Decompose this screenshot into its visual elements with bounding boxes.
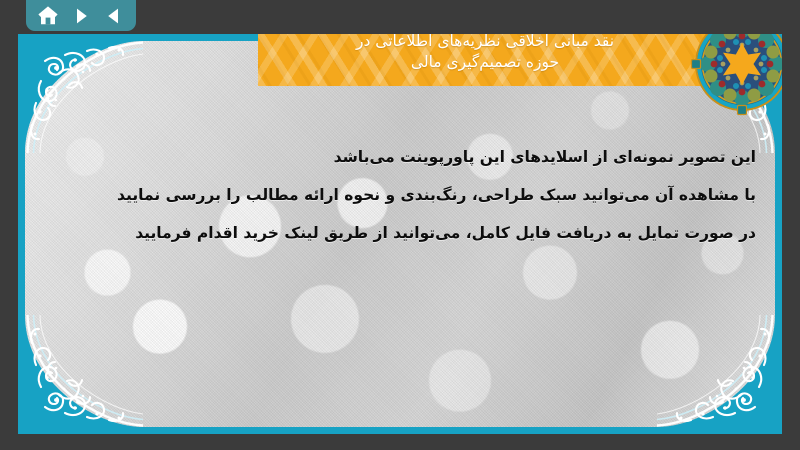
banner-left-tab [716, 34, 732, 86]
banner-body: نقد مبانی اخلاقی نظریه‌های اطلاعاتی در ح… [258, 34, 716, 86]
body-line: در صورت تمایل به دریافت فایل کامل، می‌تو… [138, 214, 756, 252]
body-line: با مشاهده آن می‌توانید سبک طراحی، رنگ‌بن… [138, 176, 756, 214]
home-button[interactable] [35, 4, 61, 28]
slide-body-text: این تصویر نمونه‌ای از اسلایدهای این پاور… [138, 138, 756, 252]
slide-viewer: نقد مبانی اخلاقی نظریه‌های اطلاعاتی در ح… [0, 0, 800, 450]
next-slide-button[interactable] [68, 4, 94, 28]
triangle-right-icon [71, 6, 91, 26]
home-icon [37, 5, 59, 26]
slide-canvas: نقد مبانی اخلاقی نظریه‌های اطلاعاتی در ح… [18, 34, 782, 434]
body-line: این تصویر نمونه‌ای از اسلایدهای این پاور… [138, 138, 756, 176]
navigation-bar [26, 0, 136, 31]
slide-title-banner: نقد مبانی اخلاقی نظریه‌های اطلاعاتی در ح… [258, 34, 732, 86]
previous-slide-button[interactable] [101, 4, 127, 28]
triangle-left-icon [104, 6, 124, 26]
slide-title: نقد مبانی اخلاقی نظریه‌های اطلاعاتی در ح… [346, 34, 628, 73]
